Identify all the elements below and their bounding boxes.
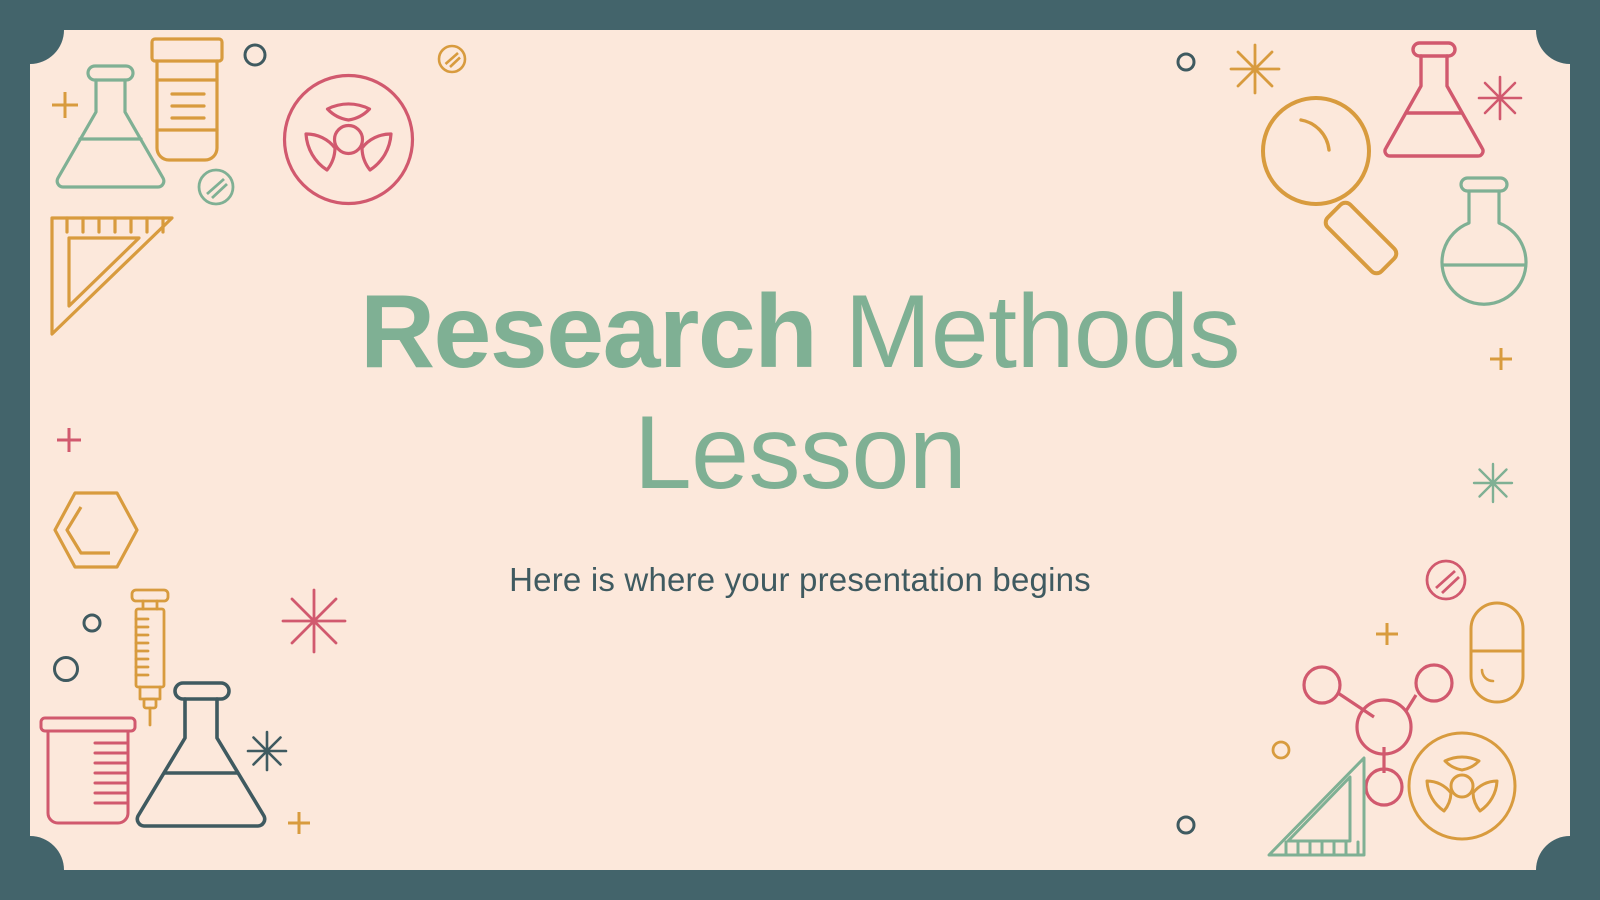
slide-root: Research Methods Lesson Here is where yo… [0,0,1600,900]
page-title-strong: Research [360,274,816,390]
page-title: Research Methods Lesson [210,272,1390,513]
slide-text-block: Research Methods Lesson Here is where yo… [0,0,1600,900]
slide-subtitle: Here is where your presentation begins [509,561,1091,599]
